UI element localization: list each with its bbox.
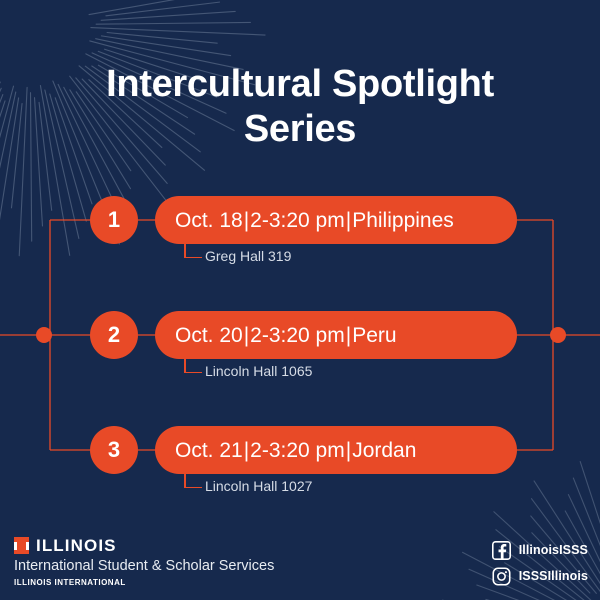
event-country: Philippines [352, 209, 454, 232]
event-pill[interactable]: Oct. 21|2-3:20 pm|Jordan [155, 426, 517, 474]
event-pill[interactable]: Oct. 20|2-3:20 pm|Peru [155, 311, 517, 359]
event-country: Jordan [352, 439, 416, 462]
social-link-instagram[interactable]: ISSSIllinois [492, 567, 588, 586]
event-pill[interactable]: Oct. 18|2-3:20 pm|Philippines [155, 196, 517, 244]
poster-canvas: Intercultural Spotlight Series 1 Oct. 18… [0, 0, 600, 600]
event-date: Oct. 21 [175, 439, 243, 462]
venue-elbow-horizontal [184, 487, 202, 489]
event-country: Peru [352, 324, 396, 347]
instagram-icon [492, 567, 511, 586]
event-pill-text: Oct. 21|2-3:20 pm|Jordan [175, 440, 416, 461]
illinois-wordmark: ILLINOIS [36, 537, 117, 554]
event-venue: Greg Hall 319 [205, 248, 291, 264]
event-row: 1 Oct. 18|2-3:20 pm|Philippines Greg Hal… [0, 196, 600, 270]
social-link-facebook[interactable]: IllinoisISSS [492, 541, 588, 560]
facebook-icon [492, 541, 511, 560]
event-number-badge: 2 [90, 311, 138, 359]
instagram-handle: ISSSIllinois [519, 570, 588, 583]
event-pill-text: Oct. 18|2-3:20 pm|Philippines [175, 210, 454, 231]
event-time: 2-3:20 pm [250, 324, 345, 347]
social-links-block: IllinoisISSS ISSSIllinois [492, 541, 588, 586]
venue-elbow-horizontal [184, 257, 202, 259]
event-row: 3 Oct. 21|2-3:20 pm|Jordan Lincoln Hall … [0, 426, 600, 500]
event-venue: Lincoln Hall 1027 [205, 478, 312, 494]
venue-elbow-horizontal [184, 372, 202, 374]
timeline-bracket-frame [0, 0, 600, 600]
footer-logo-block: ILLINOIS International Student & Scholar… [14, 537, 314, 588]
block-i-icon [14, 537, 29, 554]
footer-subunit-name: ILLINOIS INTERNATIONAL [14, 579, 314, 588]
footer-unit-name: International Student & Scholar Services [14, 559, 314, 575]
event-time: 2-3:20 pm [250, 209, 345, 232]
facebook-handle: IllinoisISSS [519, 544, 588, 557]
illinois-logo-line: ILLINOIS [14, 537, 314, 554]
event-date: Oct. 18 [175, 209, 243, 232]
event-row: 2 Oct. 20|2-3:20 pm|Peru Lincoln Hall 10… [0, 311, 600, 385]
event-number-badge: 3 [90, 426, 138, 474]
event-date: Oct. 20 [175, 324, 243, 347]
event-number-badge: 1 [90, 196, 138, 244]
event-pill-text: Oct. 20|2-3:20 pm|Peru [175, 325, 397, 346]
event-venue: Lincoln Hall 1065 [205, 363, 312, 379]
event-time: 2-3:20 pm [250, 439, 345, 462]
